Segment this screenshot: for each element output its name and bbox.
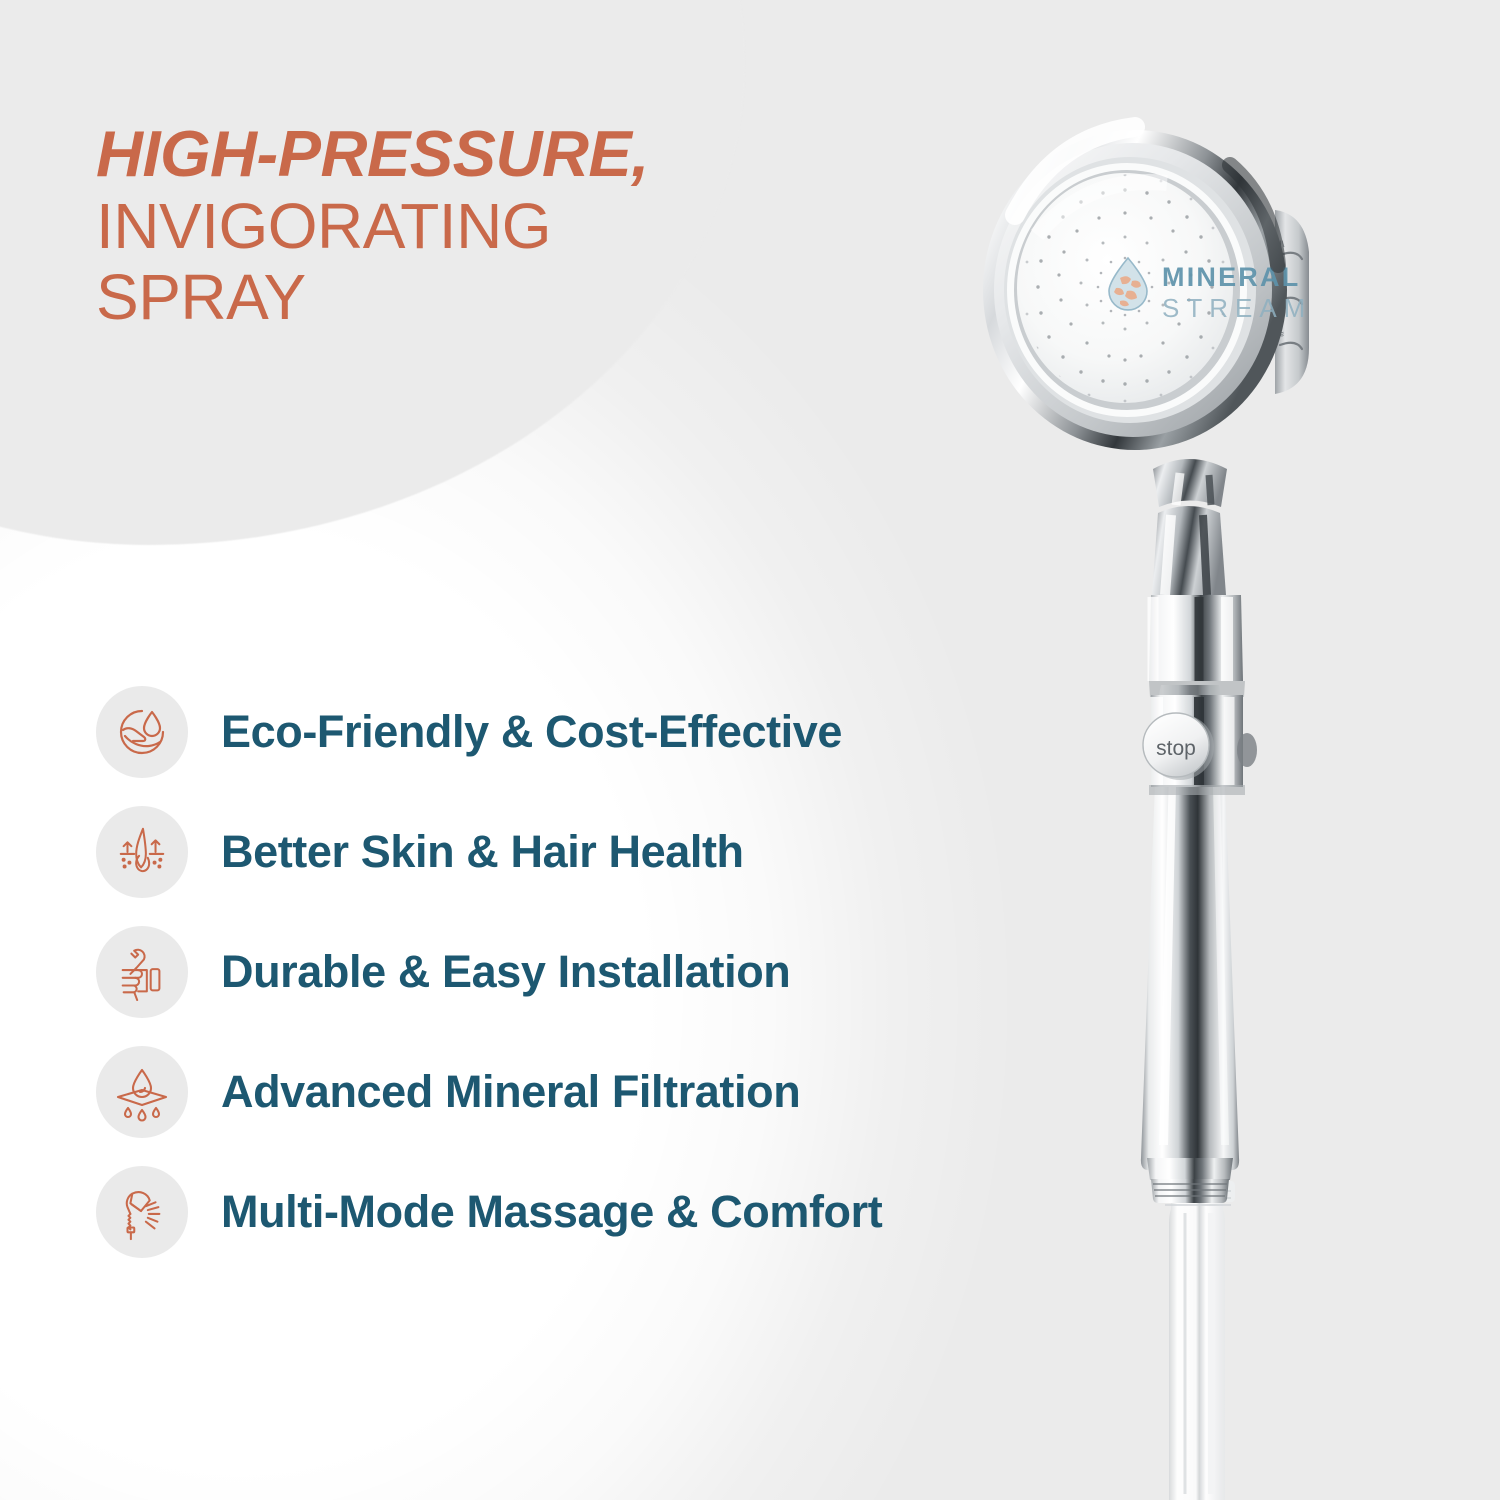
headline-line-1: HIGH-PRESSURE, <box>96 118 736 191</box>
stop-button-label: stop <box>1156 737 1196 760</box>
feature-item: Eco-Friendly & Cost-Effective <box>96 672 1086 792</box>
feature-label: Multi-Mode Massage & Comfort <box>221 1186 882 1239</box>
feature-label: Durable & Easy Installation <box>221 946 790 999</box>
nozzle-holes <box>1026 174 1225 403</box>
mode-button-3 <box>1280 343 1302 349</box>
showerhead-face-plate <box>1017 173 1233 403</box>
handheld-shower-spray-icon <box>96 1166 188 1258</box>
feature-label: Eco-Friendly & Cost-Effective <box>221 706 842 759</box>
drop-filter-membrane-icon <box>96 1046 188 1138</box>
hand-wrench-icon <box>96 926 188 1018</box>
headline-line-3: SPRAY <box>96 262 736 334</box>
headline: HIGH-PRESSURE, INVIGORATING SPRAY <box>96 118 736 334</box>
hand-water-drop-icon <box>96 686 188 778</box>
mode-button-1 <box>1280 253 1302 259</box>
svg-text:≡: ≡ <box>1277 284 1282 294</box>
feature-item: Durable & Easy Installation <box>96 912 1086 1032</box>
feature-list: Eco-Friendly & Cost-Effective Better Ski… <box>96 672 1086 1272</box>
headline-line-2: INVIGORATING <box>96 191 736 263</box>
feature-label: Advanced Mineral Filtration <box>221 1066 800 1119</box>
threaded-connector <box>1147 1158 1233 1203</box>
feature-item: Multi-Mode Massage & Comfort <box>96 1152 1086 1272</box>
brand-name-secondary: STREAM <box>1162 293 1312 323</box>
brand-name-primary: MINERAL <box>1162 262 1300 292</box>
stop-button-housing <box>1149 595 1245 697</box>
handle-body <box>1141 685 1239 1170</box>
hair-follicle-skin-icon <box>96 806 188 898</box>
svg-text:≋: ≋ <box>1277 329 1285 339</box>
feature-label: Better Skin & Hair Health <box>221 826 744 879</box>
stop-button[interactable]: stop <box>1143 713 1214 780</box>
showerhead-outer-ring <box>983 130 1287 450</box>
brand-logo-droplet <box>1109 258 1147 310</box>
feature-item: Advanced Mineral Filtration <box>96 1032 1086 1152</box>
mode-selector-panel[interactable]: /|\ ≡ ≋ <box>1275 210 1309 394</box>
svg-text:/|\: /|\ <box>1277 239 1285 249</box>
product-reflection <box>1161 1181 1235 1500</box>
mode-button-2 <box>1280 298 1302 304</box>
ball-joint <box>1153 459 1227 507</box>
swivel-neck <box>1152 506 1226 595</box>
feature-item: Better Skin & Hair Health <box>96 792 1086 912</box>
valve-collar <box>1149 695 1245 795</box>
infographic-canvas: HIGH-PRESSURE, INVIGORATING SPRAY Eco-Fr… <box>0 0 1500 1500</box>
